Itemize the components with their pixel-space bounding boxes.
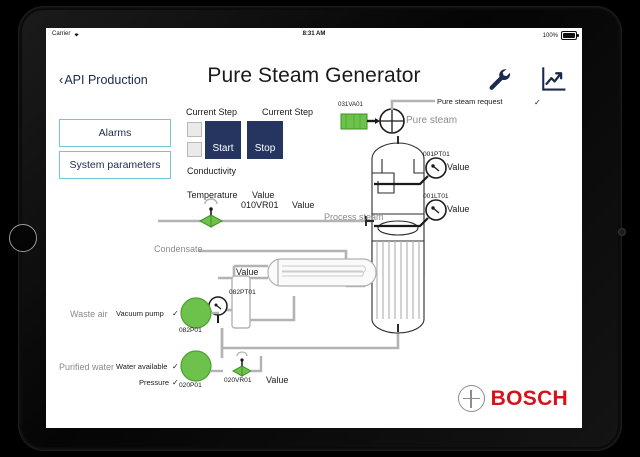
waste-air-label: Waste air — [70, 309, 108, 319]
condensate-label: Condensate — [154, 244, 203, 254]
pure-steam-label: Pure steam — [406, 115, 457, 126]
vacuum-pump-check-icon: ✓ — [172, 309, 179, 318]
gauge-001PT01-value[interactable]: Value — [447, 162, 469, 172]
pure-steam-request-label: Pure steam request — [437, 97, 502, 106]
pressure-label: Pressure — [139, 378, 169, 387]
bosch-emblem-icon — [458, 385, 485, 412]
water-available-label: Water available — [116, 362, 167, 371]
purified-water-label: Purified water — [59, 362, 114, 372]
valve-031VA01[interactable] — [341, 114, 380, 129]
gauge-001LT01-value[interactable]: Value — [447, 204, 469, 214]
pure-steam-request-check-icon: ✓ — [534, 98, 541, 107]
valve-031VA01-tag: 031VA01 — [338, 101, 363, 108]
gauge-082PT01-tag: 082PT01 — [229, 289, 256, 296]
front-camera-icon — [618, 228, 626, 236]
pump-020P01-tag: 020P01 — [179, 382, 202, 389]
column-vessel — [372, 143, 424, 333]
receiver-tank — [232, 276, 250, 328]
valve-020VR01[interactable] — [233, 352, 261, 376]
vessel-internal-lens — [378, 221, 418, 235]
vessel-lower-shell — [372, 241, 424, 333]
water-available-check-icon: ✓ — [172, 362, 179, 371]
tablet-device: Carrier 8:31 AM 100% ‹API Production Pur… — [0, 0, 640, 457]
pump-082P01-tag: 082P01 — [179, 327, 202, 334]
pump-082P01[interactable] — [181, 298, 211, 328]
bosch-wordmark: BOSCH — [491, 387, 568, 411]
bosch-logo: BOSCH — [458, 385, 568, 412]
gauge-082PT01[interactable] — [209, 297, 227, 323]
pump-020P01[interactable] — [181, 351, 211, 381]
vacuum-pump-label: Vacuum pump — [116, 309, 164, 318]
gauge-001PT01-tag: 001PT01 — [423, 151, 450, 158]
pipe-pure-steam-request — [392, 101, 435, 110]
gauge-001LT01-tag: 001LT01 — [423, 193, 449, 200]
gauge-082PT01-value[interactable]: Value — [236, 267, 258, 277]
valve-010VR01-value[interactable]: Value — [292, 200, 314, 210]
tablet-screen: Carrier 8:31 AM 100% ‹API Production Pur… — [46, 28, 582, 428]
valve-010VR01[interactable] — [200, 199, 222, 227]
process-steam-label: Process steam — [324, 212, 384, 222]
valve-010VR01-tag: 010VR01 — [241, 200, 279, 210]
pressure-check-icon: ✓ — [172, 378, 179, 387]
valve-020VR01-tag: 020VR01 — [224, 377, 252, 384]
home-button[interactable] — [9, 224, 37, 252]
valve-020VR01-value[interactable]: Value — [266, 375, 288, 385]
